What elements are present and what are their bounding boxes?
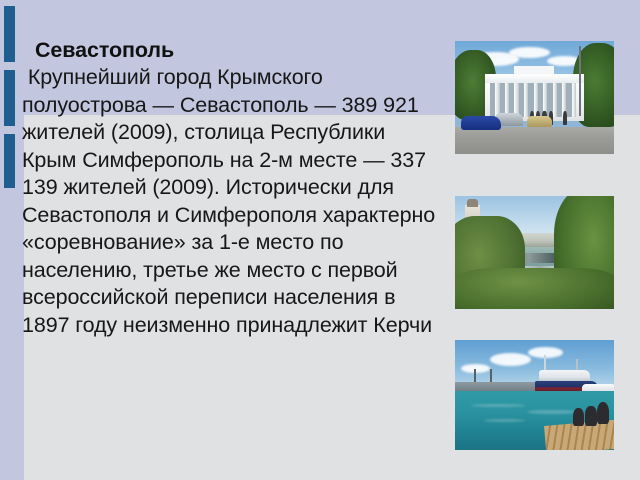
car-tan	[527, 116, 552, 127]
person-figure	[563, 111, 567, 125]
colonnade-column	[572, 83, 576, 117]
page-title: Севастополь	[22, 36, 437, 64]
photo-harbour	[455, 196, 614, 309]
cloud-shape	[509, 47, 550, 58]
lamp-pole	[579, 46, 581, 116]
accent-bar-3	[4, 134, 15, 188]
foliage-bottom	[455, 268, 614, 309]
person-figure	[597, 402, 610, 424]
photo-colonnade	[455, 41, 614, 154]
presentation-slide: Севастополь Крупнейший город Крымского п…	[0, 0, 640, 480]
accent-bars-decoration	[4, 6, 15, 188]
accent-bar-2	[4, 70, 15, 126]
ground-layer	[455, 127, 614, 154]
photo-ship	[455, 340, 614, 450]
ship-mast	[576, 359, 578, 371]
water-highlight	[528, 410, 576, 413]
water-highlight	[471, 404, 525, 407]
person-figure	[573, 408, 584, 426]
car-blue	[461, 116, 501, 131]
building-entablature	[485, 74, 584, 83]
slide-text-block: Севастополь Крупнейший город Крымского п…	[22, 36, 437, 339]
ship-superstructure	[539, 370, 590, 382]
slide-body-text: Крупнейший город Крымского полуострова —…	[22, 64, 437, 339]
person-figure	[585, 406, 596, 426]
ship-mast	[544, 355, 546, 370]
bell-tower-top	[467, 199, 478, 207]
accent-bar-1	[4, 6, 15, 62]
